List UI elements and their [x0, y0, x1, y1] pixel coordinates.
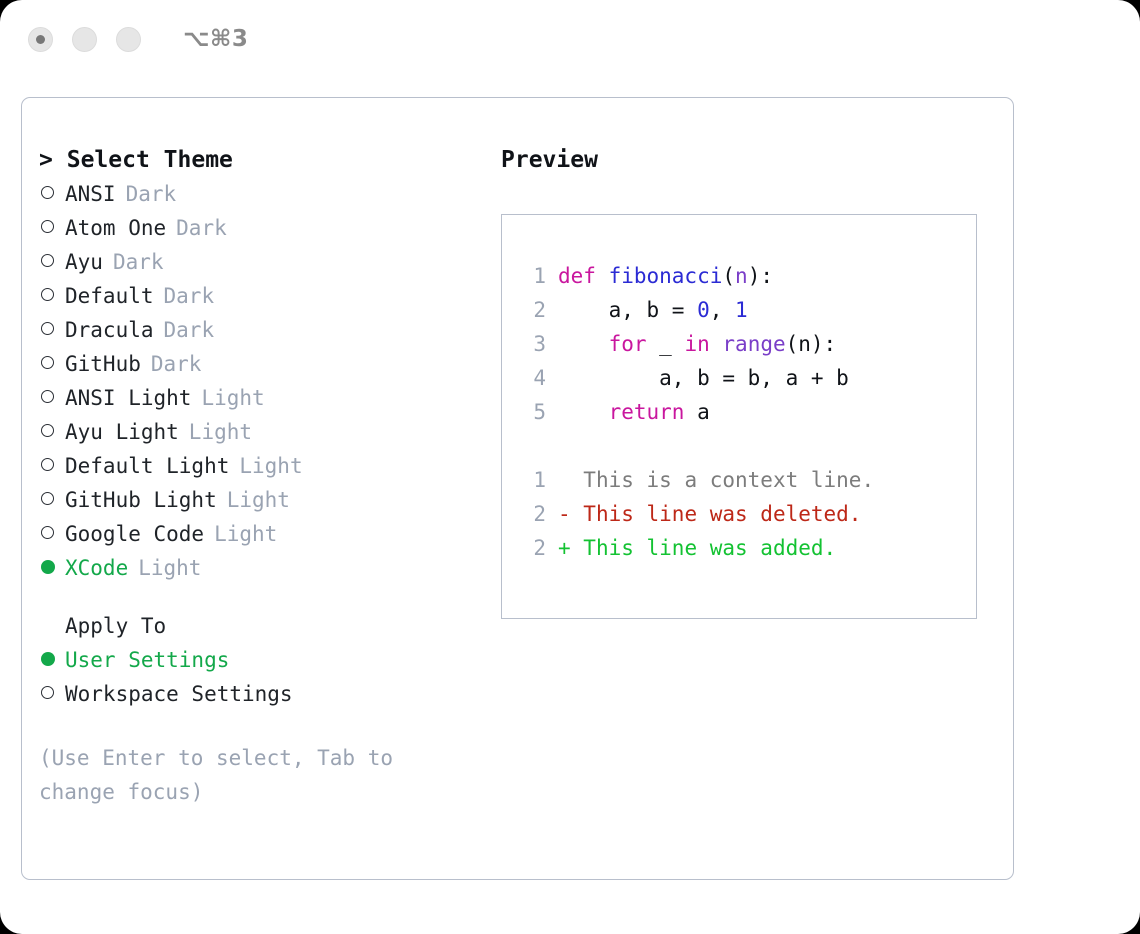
code-token-plain: a, b =: [558, 298, 697, 322]
theme-picker-column: > Select Theme ANSIDarkAtom OneDarkAyuDa…: [39, 143, 489, 809]
radio-glyph: [41, 390, 54, 403]
code-token-plain: a: [684, 400, 709, 424]
code-token-fn: fibonacci: [609, 264, 723, 288]
theme-option-tag: Light: [239, 449, 302, 483]
line-number: 5: [516, 395, 546, 429]
code-token-kw: in: [684, 332, 709, 356]
diff-line-del: 2- This line was deleted.: [516, 497, 976, 531]
plain-dot-icon-1[interactable]: [72, 27, 97, 52]
theme-option-github-light[interactable]: GitHub LightLight: [39, 483, 489, 517]
radio-glyph: [41, 492, 54, 505]
code-text: return a: [558, 395, 710, 429]
theme-option-label: Dracula: [65, 313, 154, 347]
line-number: 2: [516, 531, 546, 565]
theme-option-tag: Light: [138, 551, 201, 585]
prompt-caret: >: [39, 147, 53, 173]
diff-line-ctx: 1 This is a context line.: [516, 463, 976, 497]
apply-to-list: User SettingsWorkspace Settings: [39, 643, 489, 711]
theme-option-atom-one[interactable]: Atom OneDark: [39, 211, 489, 245]
plain-dot-icon-2[interactable]: [116, 27, 141, 52]
code-line: 2 a, b = 0, 1: [516, 293, 976, 327]
preview-column: Preview 1def fibonacci(n):2 a, b = 0, 13…: [501, 143, 996, 619]
theme-option-label: XCode: [65, 551, 128, 585]
code-token-plain: [558, 400, 609, 424]
theme-option-tag: Dark: [176, 211, 227, 245]
apply-to-option-user-settings[interactable]: User Settings: [39, 643, 489, 677]
apply-to-heading: o Apply To: [39, 609, 489, 643]
preview-title: Preview: [501, 143, 996, 177]
code-token-kw: return: [609, 400, 685, 424]
radio-glyph: [41, 686, 54, 699]
radio-glyph: [41, 526, 54, 539]
code-text: for _ in range(n):: [558, 327, 836, 361]
theme-option-tag: Light: [227, 483, 290, 517]
theme-option-tag: Light: [214, 517, 277, 551]
diff-text: This line was deleted.: [571, 497, 862, 531]
code-token-plain: [710, 332, 723, 356]
theme-option-label: ANSI: [65, 177, 116, 211]
code-line: 3 for _ in range(n):: [516, 327, 976, 361]
theme-option-label: Default Light: [65, 449, 229, 483]
code-preview-box: 1def fibonacci(n):2 a, b = 0, 13 for _ i…: [501, 214, 977, 619]
code-text: def fibonacci(n):: [558, 259, 773, 293]
theme-option-tag: Light: [201, 381, 264, 415]
diff-sign: -: [558, 497, 571, 531]
line-number: 4: [516, 361, 546, 395]
code-line: 4 a, b = b, a + b: [516, 361, 976, 395]
code-token-param: n: [735, 264, 748, 288]
theme-option-label: ANSI Light: [65, 381, 191, 415]
theme-option-tag: Dark: [113, 245, 164, 279]
keyboard-shortcut-label: ⌥⌘3: [183, 26, 248, 52]
theme-option-label: Default: [65, 279, 154, 313]
theme-option-default[interactable]: DefaultDark: [39, 279, 489, 313]
theme-option-tag: Dark: [126, 177, 177, 211]
line-number: 1: [516, 463, 546, 497]
theme-option-tag: Dark: [164, 313, 215, 347]
code-token-plain: (: [722, 264, 735, 288]
code-text: a, b = 0, 1: [558, 293, 748, 327]
theme-option-tag: Dark: [164, 279, 215, 313]
theme-option-ayu-light[interactable]: Ayu LightLight: [39, 415, 489, 449]
theme-option-label: GitHub Light: [65, 483, 217, 517]
diff-block: 1 This is a context line.2- This line wa…: [516, 463, 976, 565]
theme-option-label: Ayu: [65, 245, 103, 279]
diff-line-add: 2+ This line was added.: [516, 531, 976, 565]
record-dot-core-icon: [36, 35, 45, 44]
radio-glyph: [41, 424, 54, 437]
page-title-text: Select Theme: [67, 147, 233, 173]
theme-option-ayu[interactable]: AyuDark: [39, 245, 489, 279]
window-controls: [28, 27, 141, 52]
code-token-kw: for: [609, 332, 647, 356]
record-dot-icon[interactable]: [28, 27, 53, 52]
code-token-plain: ,: [710, 298, 735, 322]
code-line: 1def fibonacci(n):: [516, 259, 976, 293]
code-text: a, b = b, a + b: [558, 361, 849, 395]
theme-option-label: GitHub: [65, 347, 141, 381]
radio-glyph: [41, 288, 54, 301]
apply-to-option-workspace-settings[interactable]: Workspace Settings: [39, 677, 489, 711]
apply-to-heading-label: Apply To: [65, 609, 166, 643]
theme-option-label: Ayu Light: [65, 415, 179, 449]
radio-glyph: [41, 322, 54, 335]
code-token-plain: ):: [748, 264, 773, 288]
code-token-plain: _: [647, 332, 685, 356]
code-token-plain: a, b = b, a + b: [558, 366, 849, 390]
line-number: 3: [516, 327, 546, 361]
code-token-kw: def: [558, 264, 609, 288]
theme-option-label: Google Code: [65, 517, 204, 551]
main-panel: > Select Theme ANSIDarkAtom OneDarkAyuDa…: [21, 97, 1014, 880]
radio-glyph: [41, 356, 54, 369]
line-number: 2: [516, 293, 546, 327]
diff-text: This line was added.: [571, 531, 837, 565]
code-line: 5 return a: [516, 395, 976, 429]
code-diff-spacer: [516, 429, 976, 463]
theme-option-tag: Dark: [151, 347, 202, 381]
theme-option-default-light[interactable]: Default LightLight: [39, 449, 489, 483]
code-token-num: 1: [735, 298, 748, 322]
apply-to-option-label: Workspace Settings: [65, 677, 293, 711]
theme-option-github[interactable]: GitHubDark: [39, 347, 489, 381]
app-window: ⌥⌘3 > Select Theme ANSIDarkAtom OneDarkA…: [0, 0, 1140, 934]
apply-to-option-label: User Settings: [65, 643, 229, 677]
radio-glyph: [41, 254, 54, 267]
diff-sign: +: [558, 531, 571, 565]
theme-list: ANSIDarkAtom OneDarkAyuDarkDefaultDarkDr…: [39, 177, 489, 585]
page-title: > Select Theme: [39, 143, 489, 177]
radio-glyph: [41, 458, 54, 471]
title-bar: ⌥⌘3: [0, 0, 1140, 78]
line-number: 2: [516, 497, 546, 531]
code-token-plain: [558, 332, 609, 356]
theme-option-google-code[interactable]: Google CodeLight: [39, 517, 489, 551]
radio-glyph: [41, 220, 54, 233]
diff-text: This is a context line.: [571, 463, 874, 497]
theme-option-dracula[interactable]: DraculaDark: [39, 313, 489, 347]
code-token-num: 0: [697, 298, 710, 322]
radio-glyph: [41, 560, 55, 574]
code-token-plain: (n):: [786, 332, 837, 356]
theme-option-ansi-light[interactable]: ANSI LightLight: [39, 381, 489, 415]
radio-glyph: [41, 652, 55, 666]
code-block: 1def fibonacci(n):2 a, b = 0, 13 for _ i…: [516, 259, 976, 429]
theme-option-ansi[interactable]: ANSIDark: [39, 177, 489, 211]
theme-option-label: Atom One: [65, 211, 166, 245]
keyboard-hint: (Use Enter to select, Tab to change focu…: [39, 741, 439, 809]
line-number: 1: [516, 259, 546, 293]
theme-option-xcode[interactable]: XCodeLight: [39, 551, 489, 585]
radio-glyph: [41, 186, 54, 199]
theme-option-tag: Light: [189, 415, 252, 449]
diff-sign: [558, 463, 571, 497]
code-token-param: range: [722, 332, 785, 356]
